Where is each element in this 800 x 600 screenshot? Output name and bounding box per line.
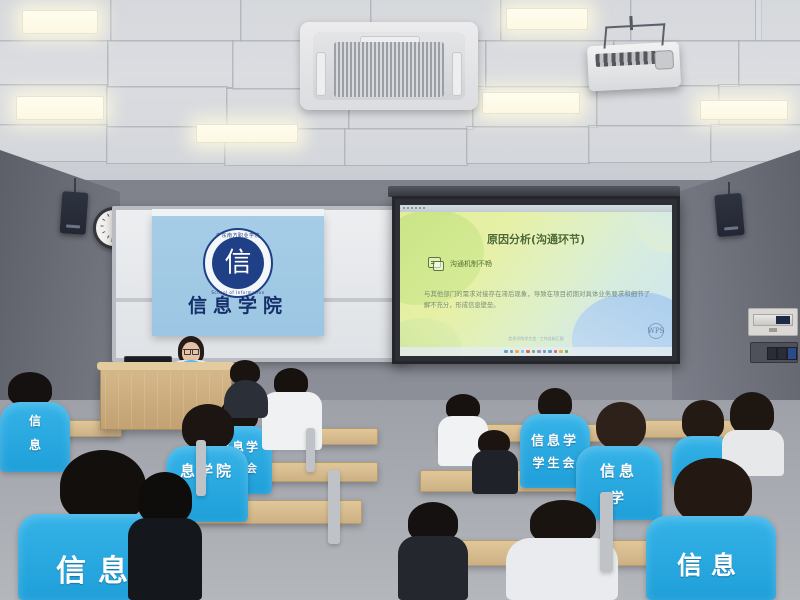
glasses-icon <box>184 349 191 355</box>
chair-back <box>306 428 315 472</box>
classroom-photo: 广东南方职业学院 信 School of Information 信息学院 原因… <box>0 0 800 600</box>
audience-member: 信息 <box>646 458 776 600</box>
ceiling-light <box>22 10 98 34</box>
glasses-icon <box>192 349 199 355</box>
school-logo: 广东南方职业学院 信 School of Information <box>203 228 273 298</box>
ceiling-light <box>196 124 298 143</box>
ceiling-light <box>482 92 580 114</box>
chair-back <box>600 492 613 572</box>
slide-footer: 信息学院学生会 · 工作总结汇报 <box>400 336 672 342</box>
slide-bullet-text: 沟通机制不畅 <box>450 259 492 269</box>
chair-back <box>328 470 340 544</box>
chat-message-icon <box>428 257 443 270</box>
window-titlebar <box>400 205 672 212</box>
slide-bullet-row: 沟通机制不畅 <box>428 257 492 270</box>
audience-member <box>472 430 518 494</box>
audience-member <box>128 472 202 600</box>
ceiling <box>0 0 800 185</box>
banner-org-name: 信息学院 <box>152 291 324 318</box>
projection-screen: 原因分析(沟通环节) 沟通机制不畅 与其他部门的需求对接存在滞后现象，导致在项目… <box>392 196 680 364</box>
light-switch-plate[interactable] <box>750 342 798 363</box>
chair-back <box>196 440 206 496</box>
department-banner: 广东南方职业学院 信 School of Information 信息学院 <box>152 214 324 336</box>
logo-character: 信 <box>205 250 271 277</box>
ceiling-light <box>506 8 588 30</box>
ceiling-light <box>700 100 788 120</box>
ceiling-light <box>16 96 104 120</box>
av-control-panel[interactable] <box>748 308 798 336</box>
windows-taskbar[interactable] <box>400 347 672 356</box>
wall-speaker-left <box>60 191 89 235</box>
vest: 信息 <box>646 516 776 600</box>
wall-speaker-right <box>714 193 745 237</box>
slide-body-text: 与其他部门的需求对接存在滞后现象，导致在项目初期对具体业务要求和细节了解不充分，… <box>424 289 650 311</box>
slide-title: 原因分析(沟通环节) <box>400 231 672 247</box>
audience-member <box>398 502 468 600</box>
presentation-slide: 原因分析(沟通环节) 沟通机制不畅 与其他部门的需求对接存在滞后现象，导致在项目… <box>400 205 672 356</box>
air-conditioner-unit <box>300 22 478 110</box>
projector <box>587 42 681 92</box>
